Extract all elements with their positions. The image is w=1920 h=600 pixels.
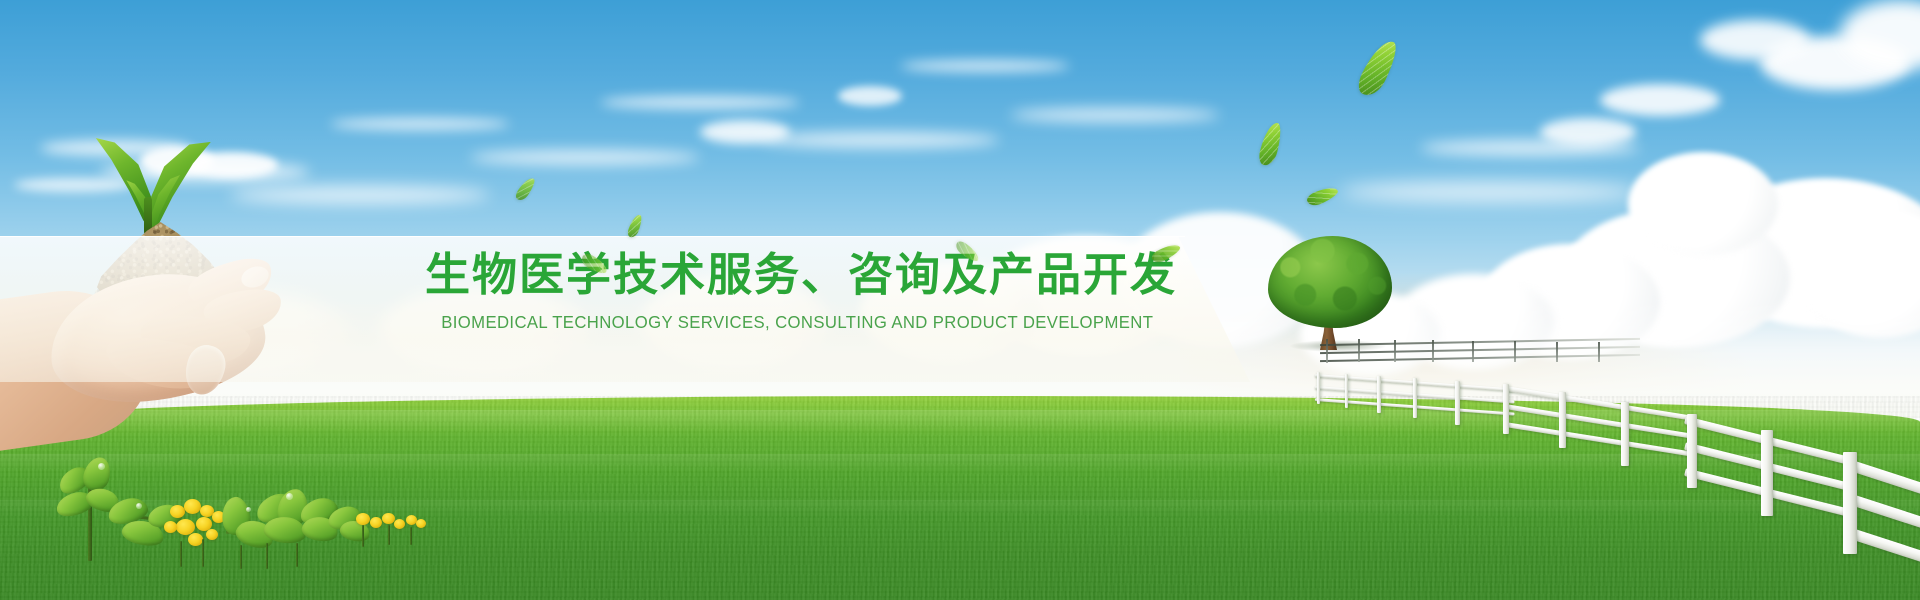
- cloud-icon: [900, 60, 1070, 72]
- plant-stem: [388, 525, 390, 545]
- flower-icon: [382, 513, 395, 524]
- fence-post: [1621, 402, 1629, 466]
- fence-rail: [1505, 404, 1693, 439]
- fence-post: [1377, 376, 1381, 413]
- fence-icon: [1315, 330, 1920, 600]
- plant-stem: [410, 527, 412, 545]
- plant-stem: [362, 525, 364, 547]
- flower-icon: [370, 517, 382, 528]
- cloud-icon: [330, 118, 510, 130]
- fence-post: [1413, 378, 1417, 418]
- flower-icon: [184, 499, 201, 514]
- fence-post: [1503, 384, 1509, 434]
- cloud-icon: [1340, 182, 1640, 202]
- fence-rail: [1505, 386, 1693, 421]
- cloud-icon: [1628, 152, 1778, 256]
- fence-post: [1843, 452, 1857, 554]
- fence-post: [1345, 374, 1348, 408]
- cloud-icon: [1600, 84, 1720, 116]
- flower-icon: [416, 519, 426, 528]
- caption-band-top-edge: [0, 236, 1185, 237]
- page-subtitle: BIOMEDICAL TECHNOLOGY SERVICES, CONSULTI…: [441, 312, 1129, 333]
- flower-icon: [188, 533, 203, 546]
- cloud-icon: [1420, 140, 1640, 156]
- dew-drop: [136, 503, 142, 509]
- cloud-icon: [838, 86, 902, 106]
- tree-canopy: [1268, 236, 1392, 328]
- cloud-icon: [1010, 108, 1220, 122]
- flower-icon: [206, 529, 218, 540]
- cloud-icon: [600, 96, 800, 109]
- fence-post: [1455, 381, 1460, 425]
- flower-icon: [164, 521, 177, 533]
- dew-drop: [286, 493, 293, 500]
- flower-icon: [356, 513, 370, 525]
- flower-cluster: [50, 455, 430, 590]
- cloud-icon: [760, 132, 1000, 148]
- cloud-icon: [700, 120, 790, 144]
- flower-icon: [394, 519, 405, 529]
- tree-foliage-texture: [1268, 236, 1392, 328]
- fence-post: [1687, 414, 1697, 488]
- plant-stem: [240, 545, 242, 569]
- plant-stem: [202, 539, 204, 567]
- cloud-icon: [1700, 20, 1810, 60]
- flower-icon: [170, 505, 185, 518]
- fence-post: [1761, 430, 1773, 516]
- caption-text-block: 生物医学技术服务、咨询及产品开发 BIOMEDICAL TECHNOLOGY S…: [425, 248, 1145, 333]
- dew-drop: [98, 463, 105, 470]
- dew-drop: [246, 507, 251, 512]
- fence-post: [1317, 372, 1320, 404]
- page-title: 生物医学技术服务、咨询及产品开发: [425, 248, 1145, 303]
- hero-banner: 生物医学技术服务、咨询及产品开发 BIOMEDICAL TECHNOLOGY S…: [0, 0, 1920, 600]
- plant-stem: [180, 541, 182, 567]
- plant-stem: [296, 543, 298, 567]
- fence-post: [1559, 392, 1566, 448]
- plant-stem: [266, 543, 268, 569]
- fence-rail: [1505, 422, 1693, 457]
- cloud-icon: [470, 150, 700, 165]
